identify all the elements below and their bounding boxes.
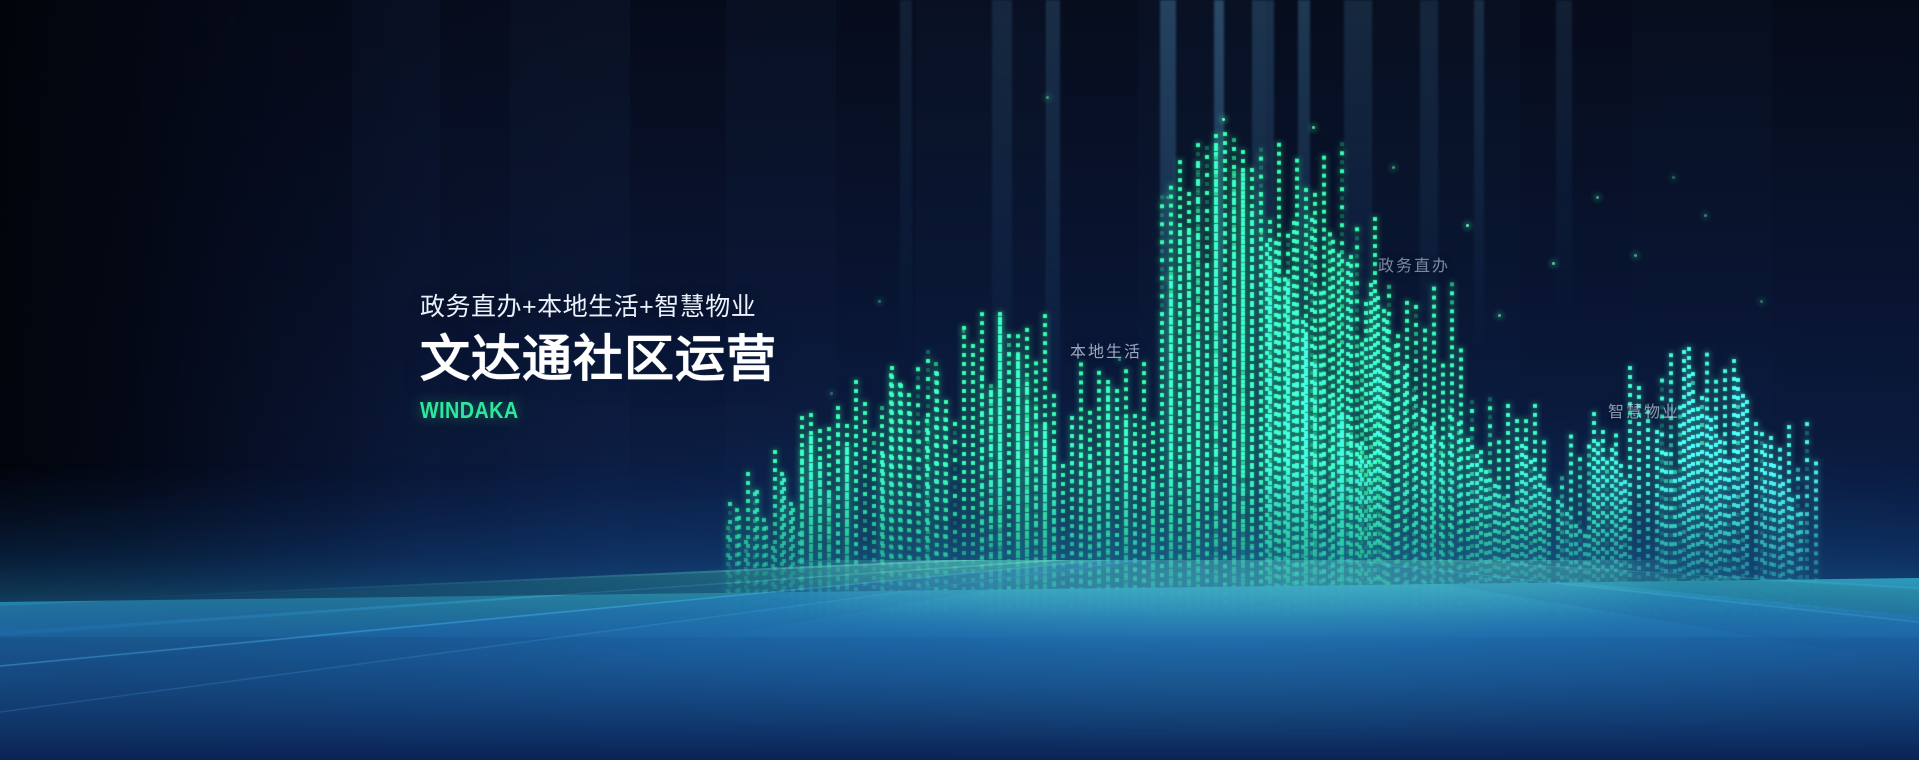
- sparkle-8: [1634, 254, 1637, 257]
- sparkle-20: [1672, 176, 1675, 179]
- sparkle-17: [1260, 232, 1263, 235]
- sparkle-5: [1596, 196, 1599, 199]
- sparkle-4: [1552, 262, 1555, 265]
- sparkle-7: [1498, 314, 1501, 317]
- ground-lines: [0, 560, 1919, 760]
- sparkle-13: [1704, 214, 1707, 217]
- sparkle-18: [1166, 196, 1169, 199]
- sparkle-1: [1222, 118, 1225, 121]
- sparkle-19: [918, 430, 921, 433]
- perspective-ground: [0, 560, 1919, 760]
- sparkle-12: [878, 300, 881, 303]
- sparkle-10: [962, 330, 965, 333]
- sparkle-6: [1392, 166, 1395, 169]
- sparkle-9: [1046, 96, 1049, 99]
- hero-headline: 文达通社区运营: [420, 332, 777, 387]
- hero-banner: 政务直办+本地生活+智慧物业 文达通社区运营 WINDAKA 政务直办本地生活智…: [0, 0, 1919, 760]
- brand-wordmark: WINDAKA: [420, 397, 727, 424]
- sparkle-3: [1466, 224, 1469, 227]
- sparkle-16: [1368, 330, 1371, 333]
- sparkle-14: [1760, 300, 1763, 303]
- sparkle-15: [830, 392, 833, 395]
- hero-copy-block: 政务直办+本地生活+智慧物业 文达通社区运营 WINDAKA: [420, 292, 777, 424]
- sparkle-2: [1312, 126, 1315, 129]
- hero-eyebrow: 政务直办+本地生活+智慧物业: [420, 292, 777, 323]
- sparkle-11: [1118, 358, 1121, 361]
